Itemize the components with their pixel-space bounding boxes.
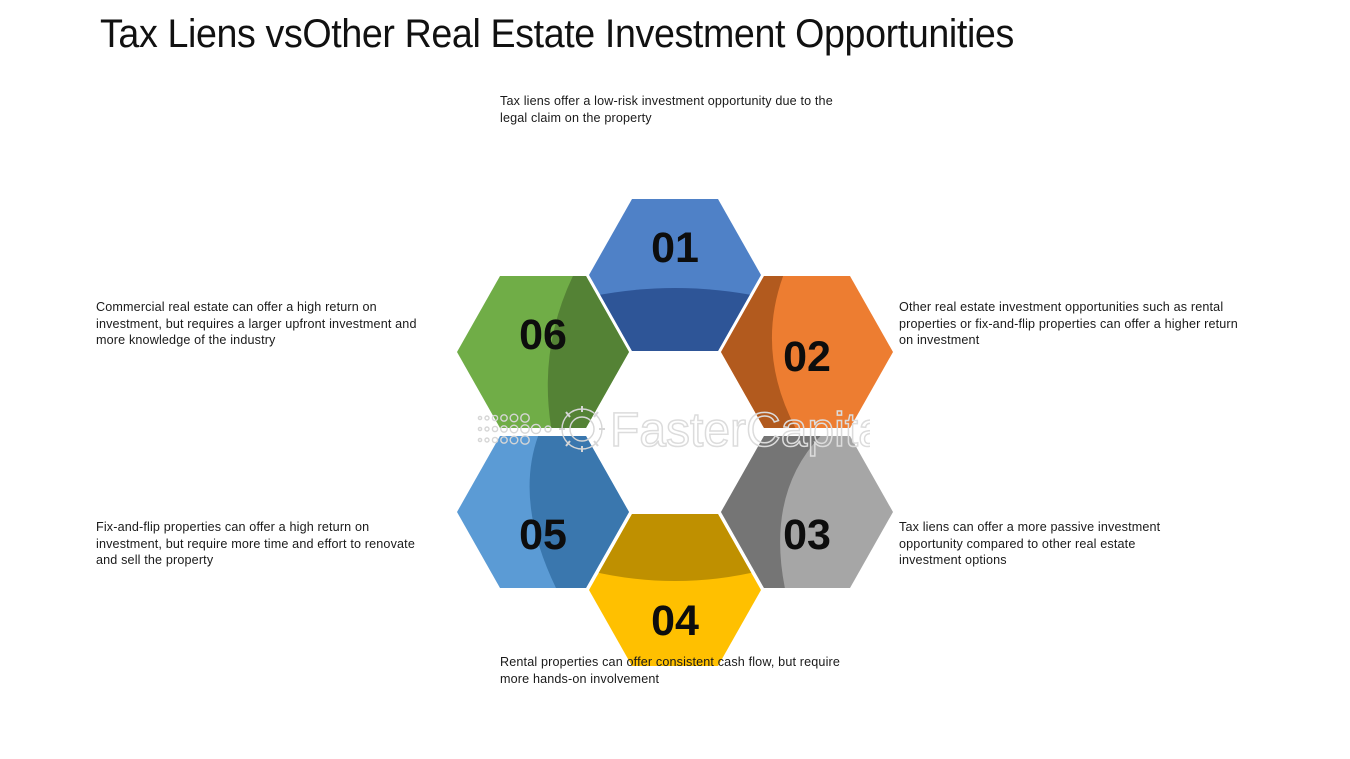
callout-label-06: Commercial real estate can offer a high … [96,299,446,349]
hexagon-05-shape [457,436,629,588]
callout-label-05: Fix-and-flip properties can offer a high… [96,519,426,569]
callout-label-03: Tax liens can offer a more passive inves… [899,519,1199,569]
page-title: Tax Liens vsOther Real Estate Investment… [100,12,1181,57]
callout-label-01: Tax liens offer a low-risk investment op… [500,93,855,126]
hexagon-02-shape [721,276,893,428]
hex-node-06[interactable]: 06 [457,276,629,428]
hex-node-02[interactable]: 02 [721,276,893,428]
hexagon-06-shape [457,276,629,428]
hex-node-05[interactable]: 05 [457,436,629,588]
hexagon-cycle-diagram: 01 02 [440,190,910,660]
callout-label-04: Rental properties can offer consistent c… [500,654,850,687]
callout-label-02: Other real estate investment opportuniti… [899,299,1244,349]
